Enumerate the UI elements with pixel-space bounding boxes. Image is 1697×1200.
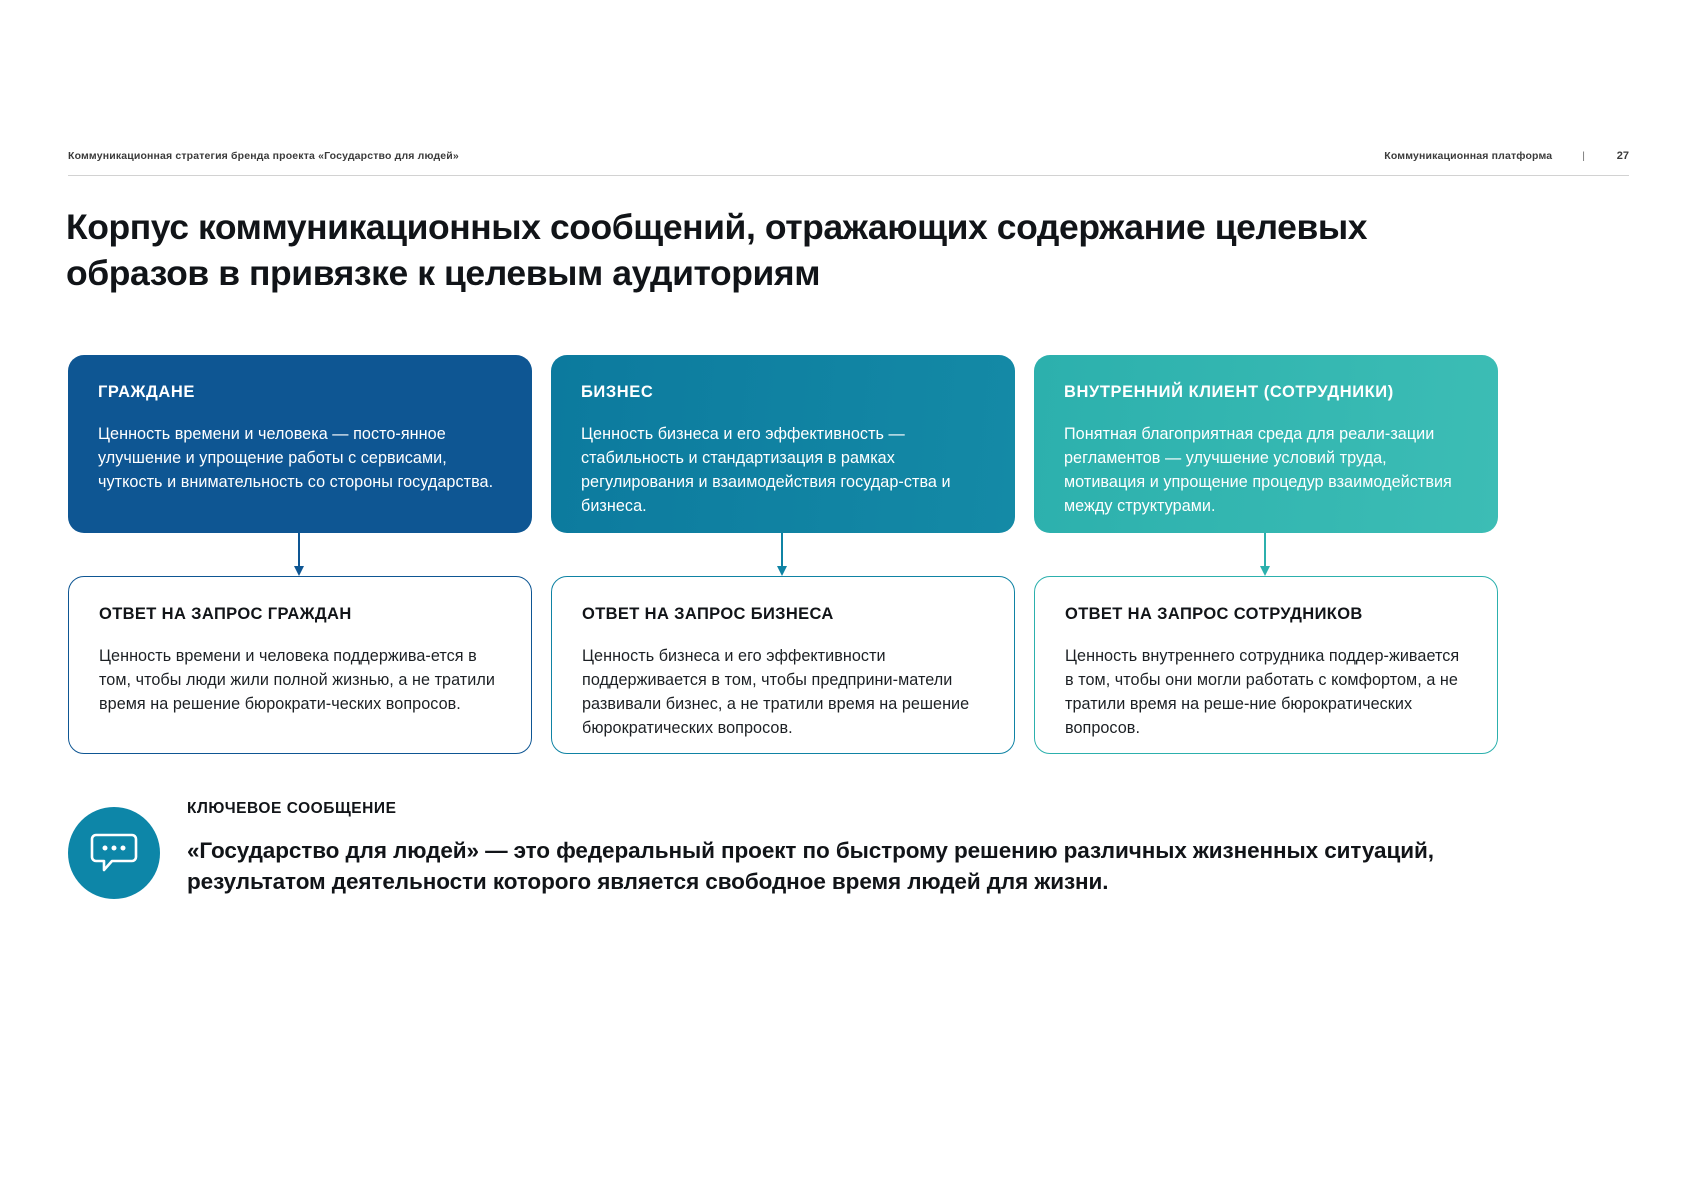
audience-card-body: Ценность бизнеса и его эффективность — с…	[581, 423, 985, 518]
page-number: 27	[1611, 150, 1629, 162]
connector-arrowhead-icon	[777, 566, 787, 576]
audience-card-citizens: ГРАЖДАНЕ Ценность времени и человека — п…	[68, 355, 532, 533]
response-column-citizens: ОТВЕТ НА ЗАПРОС ГРАЖДАН Ценность времени…	[68, 576, 532, 754]
audience-card-body: Понятная благоприятная среда для реали-з…	[1064, 423, 1468, 518]
header-section-label: Коммуникационная платформа	[1384, 150, 1552, 162]
header-divider	[68, 175, 1629, 176]
response-card-business: ОТВЕТ НА ЗАПРОС БИЗНЕСА Ценность бизнеса…	[551, 576, 1015, 754]
slide-header: Коммуникационная стратегия бренда проект…	[68, 150, 1629, 176]
audience-card-internal: ВНУТРЕННИЙ КЛИЕНТ (СОТРУДНИКИ) Понятная …	[1034, 355, 1498, 533]
response-card-title: ОТВЕТ НА ЗАПРОС БИЗНЕСА	[582, 605, 984, 623]
connector-arrowhead-icon	[1260, 566, 1270, 576]
header-separator: |	[1552, 150, 1611, 162]
response-column-business: ОТВЕТ НА ЗАПРОС БИЗНЕСА Ценность бизнеса…	[551, 576, 1015, 754]
audience-column-business: БИЗНЕС Ценность бизнеса и его эффективно…	[551, 355, 1015, 533]
response-card-citizens: ОТВЕТ НА ЗАПРОС ГРАЖДАН Ценность времени…	[68, 576, 532, 754]
connector-arrow-business	[781, 533, 783, 576]
audience-card-body: Ценность времени и человека — посто-янно…	[98, 423, 502, 494]
header-section-info: Коммуникационная платформа | 27	[1384, 150, 1629, 162]
connector-arrow-citizens	[298, 533, 300, 576]
audience-column-internal: ВНУТРЕННИЙ КЛИЕНТ (СОТРУДНИКИ) Понятная …	[1034, 355, 1498, 533]
connector-stem	[298, 533, 300, 569]
response-card-title: ОТВЕТ НА ЗАПРОС ГРАЖДАН	[99, 605, 501, 623]
audience-card-title: ГРАЖДАНЕ	[98, 383, 502, 401]
response-card-internal: ОТВЕТ НА ЗАПРОС СОТРУДНИКОВ Ценность вну…	[1034, 576, 1498, 754]
audience-card-title: ВНУТРЕННИЙ КЛИЕНТ (СОТРУДНИКИ)	[1064, 383, 1468, 401]
response-row: ОТВЕТ НА ЗАПРОС ГРАЖДАН Ценность времени…	[68, 576, 1630, 754]
slide: Коммуникационная стратегия бренда проект…	[0, 0, 1697, 1200]
audience-column-citizens: ГРАЖДАНЕ Ценность времени и человека — п…	[68, 355, 532, 533]
connector-arrowhead-icon	[294, 566, 304, 576]
header-document-title: Коммуникационная стратегия бренда проект…	[68, 150, 459, 162]
connector-arrow-internal	[1264, 533, 1266, 576]
page-title: Корпус коммуникационных сообщений, отраж…	[66, 205, 1486, 297]
response-column-internal: ОТВЕТ НА ЗАПРОС СОТРУДНИКОВ Ценность вну…	[1034, 576, 1498, 754]
connector-stem	[1264, 533, 1266, 569]
audience-card-title: БИЗНЕС	[581, 383, 985, 401]
speech-bubble-icon	[68, 807, 160, 899]
audience-row: ГРАЖДАНЕ Ценность времени и человека — п…	[68, 355, 1630, 533]
audience-card-business: БИЗНЕС Ценность бизнеса и его эффективно…	[551, 355, 1015, 533]
response-card-body: Ценность внутреннего сотрудника поддер-ж…	[1065, 645, 1467, 740]
key-message-label: КЛЮЧЕВОЕ СООБЩЕНИЕ	[187, 800, 1517, 818]
key-message-body: «Государство для людей» — это федеральны…	[187, 836, 1517, 897]
response-card-body: Ценность бизнеса и его эффективности под…	[582, 645, 984, 740]
key-message-text: КЛЮЧЕВОЕ СООБЩЕНИЕ «Государство для люде…	[187, 800, 1517, 897]
message-matrix: ГРАЖДАНЕ Ценность времени и человека — п…	[68, 355, 1630, 754]
response-card-body: Ценность времени и человека поддержива-е…	[99, 645, 501, 716]
response-card-title: ОТВЕТ НА ЗАПРОС СОТРУДНИКОВ	[1065, 605, 1467, 623]
key-message-block: КЛЮЧЕВОЕ СООБЩЕНИЕ «Государство для люде…	[68, 800, 1568, 899]
connector-stem	[781, 533, 783, 569]
